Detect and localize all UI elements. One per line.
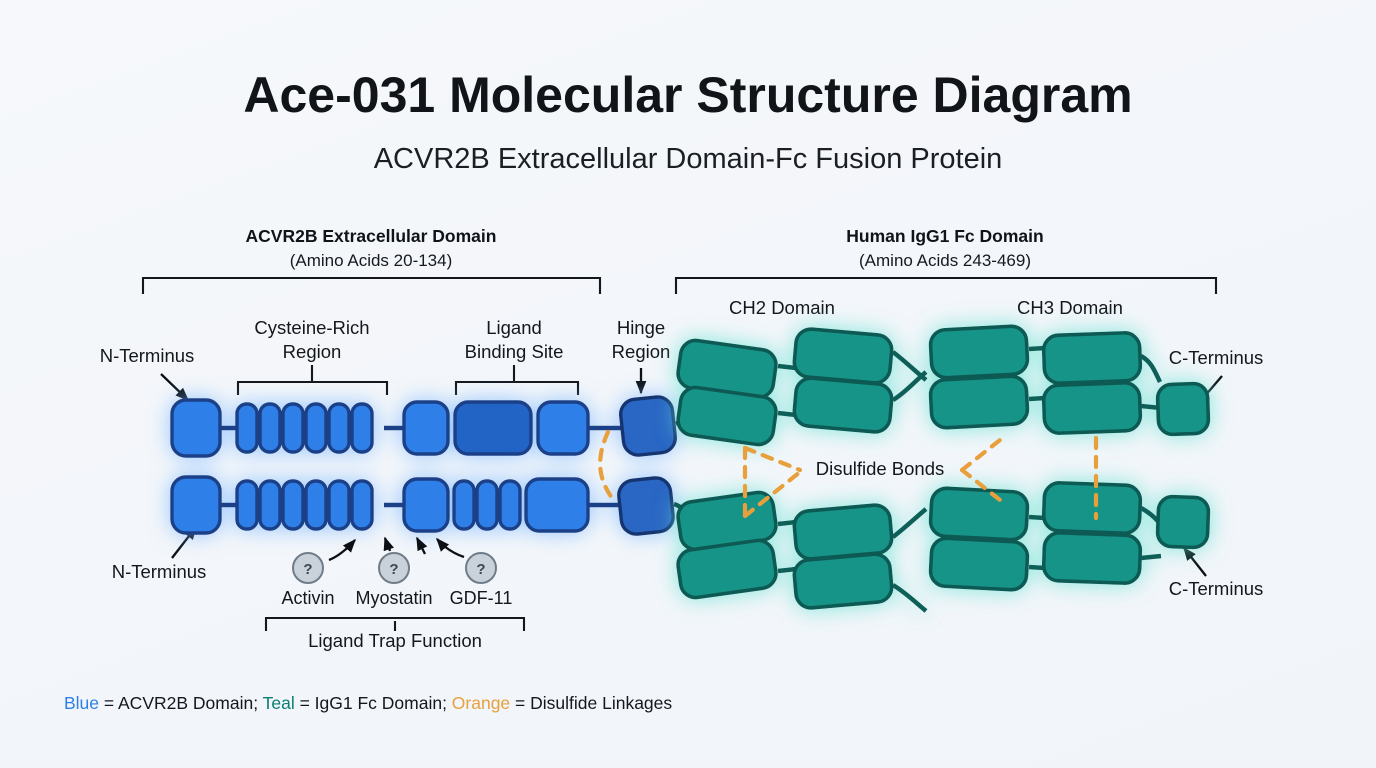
fc-ch3-lower-a2: [930, 538, 1028, 591]
disulfide-ch2-upper-diag: [745, 448, 800, 470]
arrow-myostatin-secondary: [417, 538, 425, 554]
disulfide-ch3-upper-diag: [962, 440, 1000, 470]
section-title-acvr2b: ACVR2B Extracellular Domain: [246, 226, 497, 246]
acvr2b-chain-top: [172, 395, 677, 456]
disulfide-hinge: [600, 432, 612, 498]
fc-ch3-upper-a2: [930, 376, 1028, 429]
fc-arm-lower: [674, 482, 1209, 611]
fc-ch3-upper-b2: [1043, 382, 1141, 433]
label-n-terminus-top: N-Terminus: [100, 345, 195, 366]
label-ch2: CH2 Domain: [729, 297, 835, 318]
legend: Blue = ACVR2B Domain; Teal = IgG1 Fc Dom…: [64, 693, 672, 713]
acvr2b-pill-bot-6: [352, 481, 372, 529]
arrow-myostatin: [385, 538, 390, 551]
acvr2b-pill-bot-3: [283, 481, 303, 529]
legend-blue-text: = ACVR2B Domain;: [99, 693, 263, 713]
legend-orange-text: = Disulfide Linkages: [510, 693, 672, 713]
label-c-terminus-bottom: C-Terminus: [1169, 578, 1264, 599]
bracket-fc: [676, 278, 1216, 293]
label-c-terminus-top: C-Terminus: [1169, 347, 1264, 368]
acvr2b-block-bot-1: [172, 477, 220, 533]
acvr2b-pill-bot-1: [237, 481, 257, 529]
acvr2b-block-bot-2: [404, 479, 448, 531]
fc-ch3-upper-b1: [1043, 332, 1141, 383]
fc-ch3-upper-a1: [930, 326, 1028, 379]
label-cysteine-rich-1: Cysteine-Rich: [254, 317, 369, 338]
label-ligand-trap-function: Ligand Trap Function: [308, 630, 482, 651]
acvr2b-pill-bot-9: [500, 481, 520, 529]
ligand-binding-site-block: [455, 402, 531, 454]
page-subtitle: ACVR2B Extracellular Domain-Fc Fusion Pr…: [374, 143, 1003, 175]
acvr2b-pill-top-5: [329, 404, 349, 452]
ligand-label-gdf11: GDF-11: [450, 588, 513, 608]
label-ch3: CH3 Domain: [1017, 297, 1123, 318]
label-n-terminus-bottom: N-Terminus: [112, 561, 207, 582]
arrow-gdf11: [437, 539, 464, 557]
label-ligand-binding-1: Ligand: [486, 317, 542, 338]
hinge-block-top: [619, 395, 677, 456]
bracket-cysteine-rich: [238, 366, 387, 394]
legend-orange-key: Orange: [452, 693, 510, 713]
acvr2b-domain-group: [172, 395, 677, 535]
bracket-ligand-trap: [266, 618, 524, 630]
diagram-canvas: Ace-031 Molecular Structure Diagram ACVR…: [0, 0, 1376, 768]
fc-ch3-lower-a1: [930, 488, 1028, 541]
section-title-fc: Human IgG1 Fc Domain: [846, 226, 1043, 246]
fc-ch2-lower-b1: [793, 504, 893, 560]
arrow-activin: [329, 540, 355, 560]
acvr2b-pill-top-6: [352, 404, 372, 452]
legend-teal-key: Teal: [263, 693, 295, 713]
acvr2b-block-top-2: [404, 402, 448, 454]
acvr2b-pill-bot-7: [454, 481, 474, 529]
ligand-marker-gdf11-glyph: ?: [476, 561, 485, 578]
label-cysteine-rich-2: Region: [283, 341, 342, 362]
legend-blue-key: Blue: [64, 693, 99, 713]
page-title: Ace-031 Molecular Structure Diagram: [243, 67, 1132, 123]
fc-arm-upper: [676, 326, 1209, 447]
fc-ch2-upper-b2: [793, 377, 893, 433]
ligand-trap-group: ? ? ? Activin Myostatin GDF-11 Ligand Tr…: [266, 538, 524, 651]
bracket-ligand-binding: [456, 366, 578, 394]
fc-ch2-lower-b2: [793, 553, 893, 609]
acvr2b-pill-top-1: [237, 404, 257, 452]
arrow-c-terminus-bottom: [1184, 548, 1206, 576]
acvr2b-pill-bot-5: [329, 481, 349, 529]
label-hinge-2: Region: [612, 341, 671, 362]
legend-teal-text: = IgG1 Fc Domain;: [295, 693, 452, 713]
fc-ch3-lower-b2: [1043, 532, 1141, 583]
c-terminus-block-top: [1157, 383, 1209, 435]
bracket-acvr2b: [143, 278, 600, 293]
acvr2b-chain-bottom: [172, 476, 675, 535]
acvr2b-pill-bot-8: [477, 481, 497, 529]
section-range-acvr2b: (Amino Acids 20-134): [290, 251, 453, 270]
molecular-structure-diagram: Ace-031 Molecular Structure Diagram ACVR…: [0, 0, 1376, 768]
ligand-label-myostatin: Myostatin: [355, 588, 432, 608]
acvr2b-pill-top-2: [260, 404, 280, 452]
arrow-n-terminus-top: [161, 374, 188, 400]
acvr2b-pill-bot-2: [260, 481, 280, 529]
acvr2b-pill-bot-4: [306, 481, 326, 529]
label-disulfide-bonds: Disulfide Bonds: [816, 458, 945, 479]
acvr2b-pill-top-3: [283, 404, 303, 452]
acvr2b-block-bot-3: [526, 479, 588, 531]
fc-ch2-upper-b1: [793, 328, 893, 384]
acvr2b-pill-top-4: [306, 404, 326, 452]
section-range-fc: (Amino Acids 243-469): [859, 251, 1031, 270]
acvr2b-block-top-1: [172, 400, 220, 456]
acvr2b-block-top-3: [538, 402, 588, 454]
ligand-label-activin: Activin: [281, 588, 334, 608]
label-hinge-1: Hinge: [617, 317, 665, 338]
fc-ch3-lower-b1: [1043, 482, 1141, 533]
c-terminus-block-bottom: [1157, 496, 1209, 548]
label-ligand-binding-2: Binding Site: [465, 341, 564, 362]
hinge-block-bottom: [617, 476, 674, 535]
ligand-marker-activin-glyph: ?: [303, 561, 312, 578]
ligand-marker-myostatin-glyph: ?: [389, 561, 398, 578]
